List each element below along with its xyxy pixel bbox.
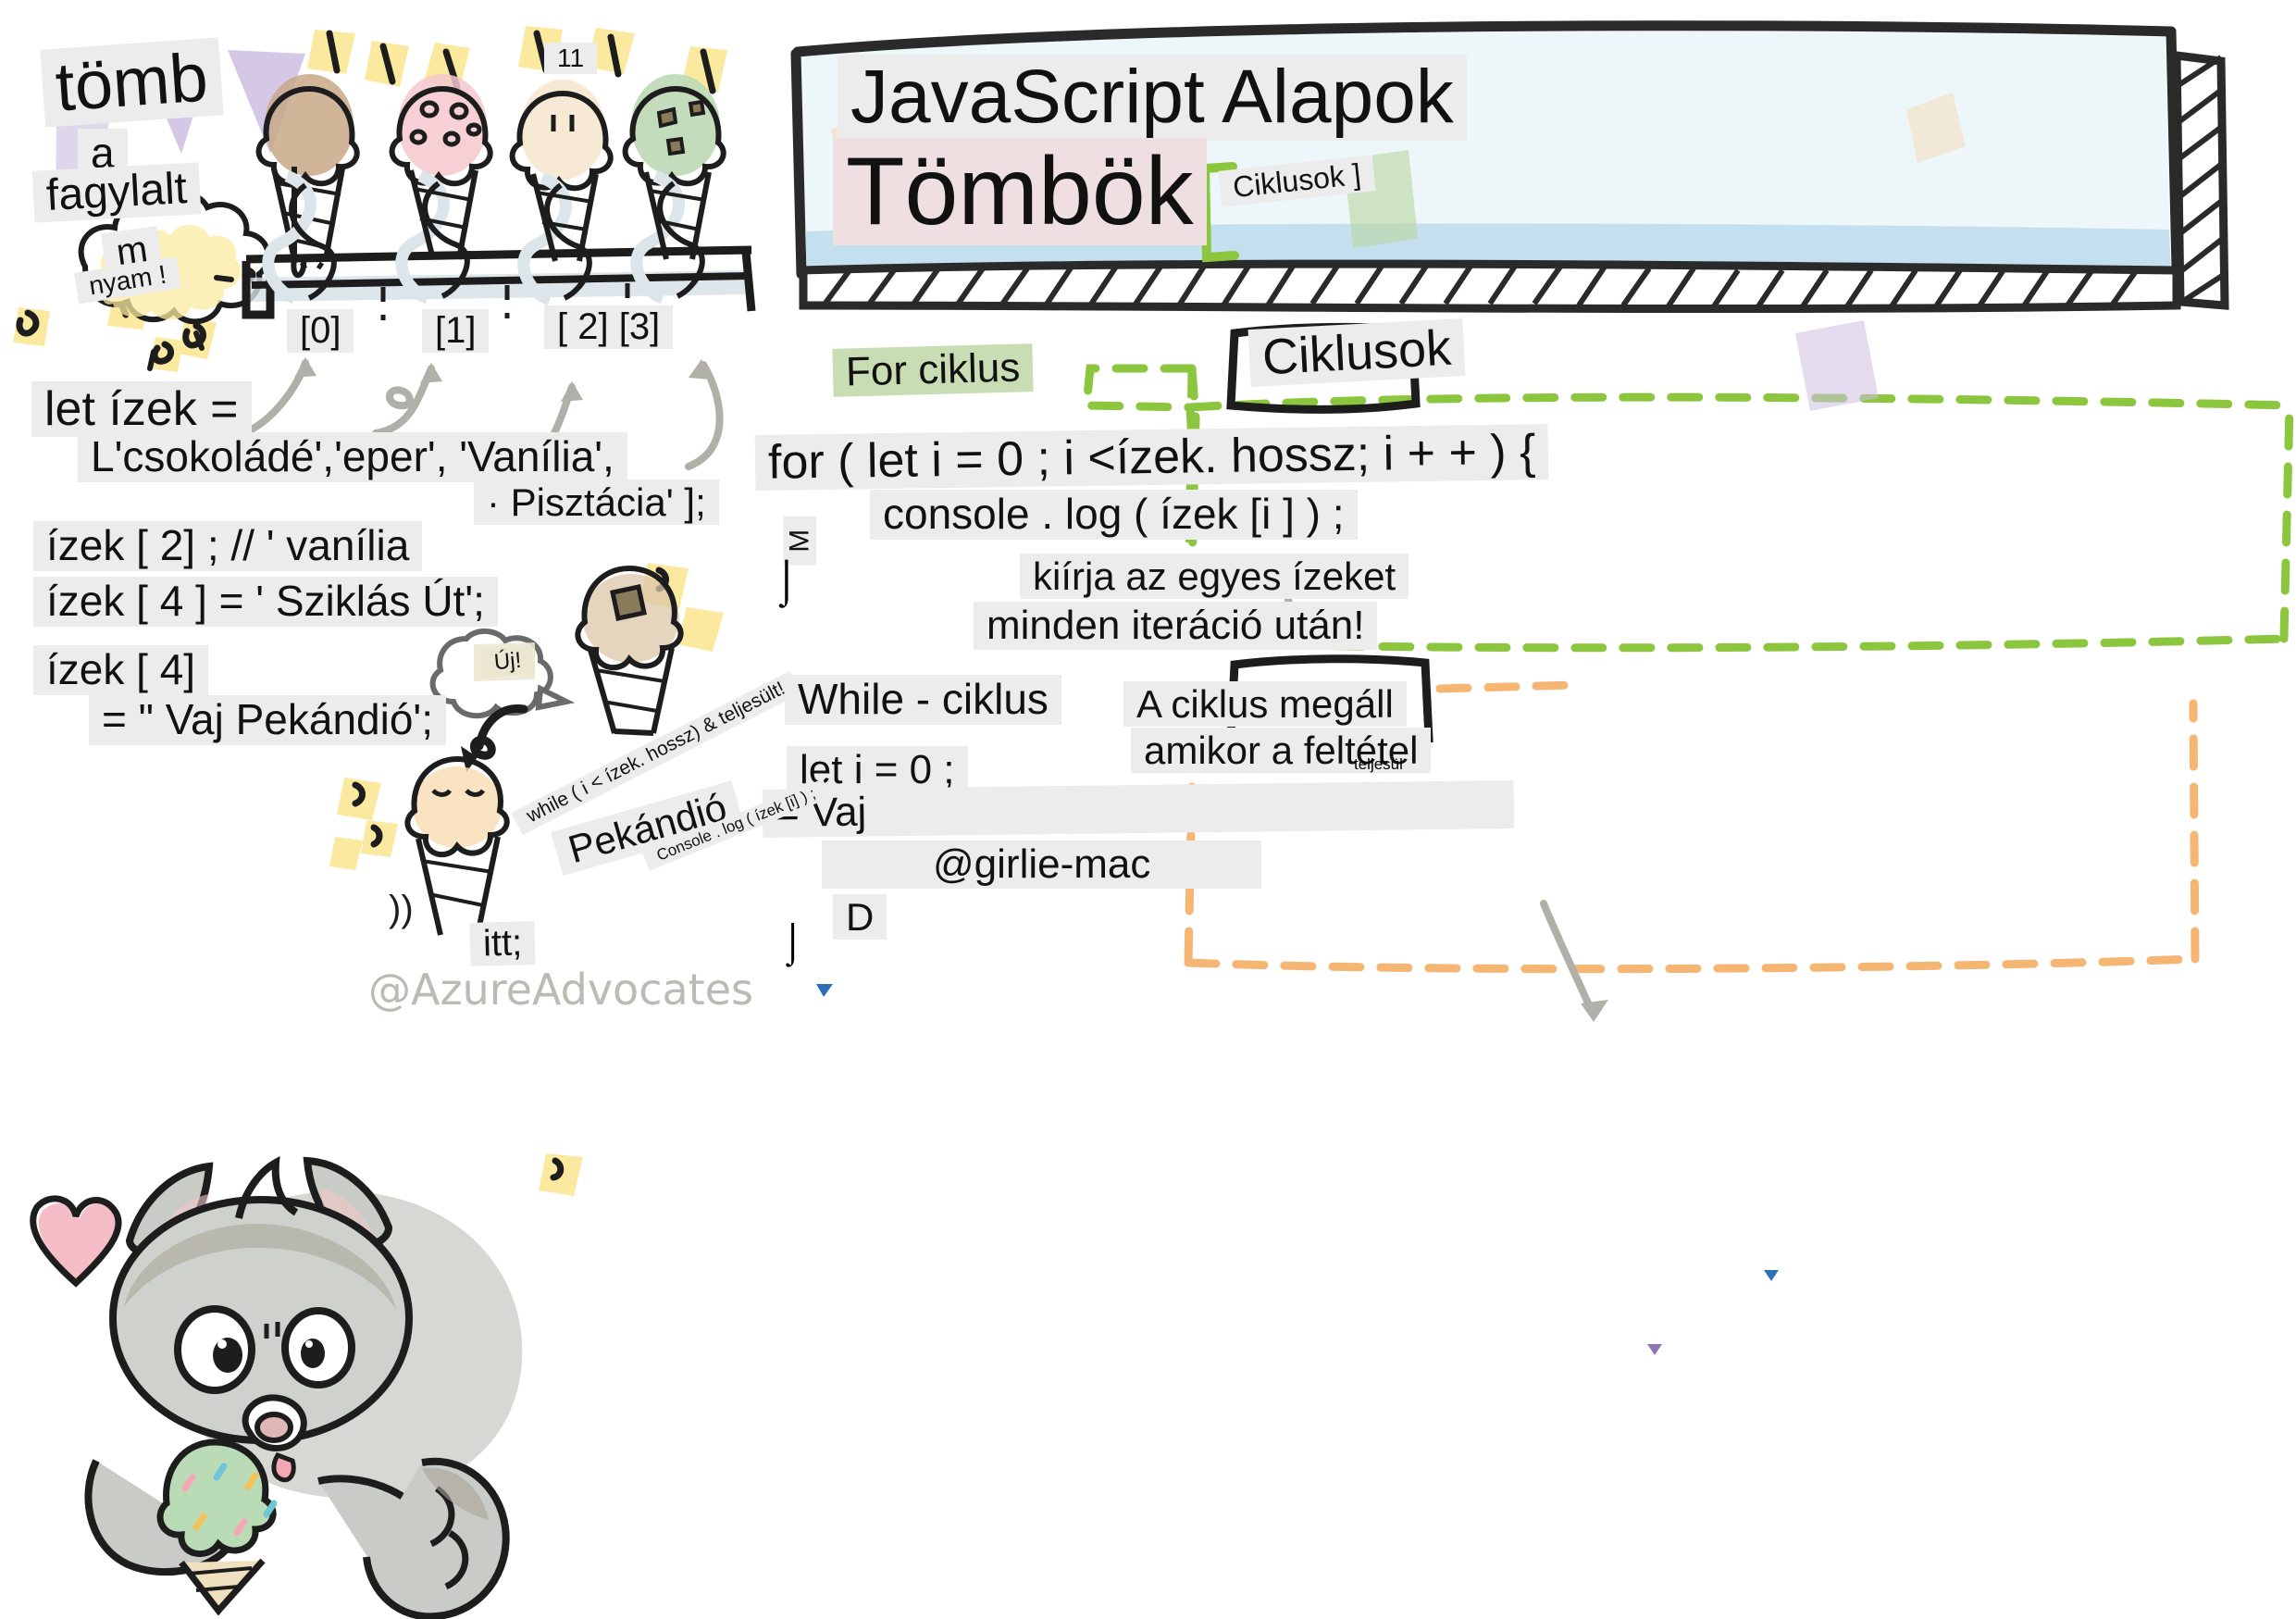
- code-line-array-1: L'csokoládé','eper', 'Vanília',: [78, 431, 627, 482]
- icecream-cone-2: [513, 80, 611, 300]
- sticker-eleven: 11: [544, 43, 597, 74]
- while-closing-brace: ⌡: [781, 920, 804, 965]
- icecream-cone-1: [392, 74, 490, 298]
- code-line-declaration: let ízek =: [31, 381, 252, 437]
- for-loop-header-code: for ( let i = 0 ; i <ízek. hossz; i + + …: [755, 424, 1549, 491]
- heading-tomb: tömb: [40, 36, 223, 127]
- black-arrow-head: [461, 746, 478, 772]
- while-note-arrowhead: [1581, 1000, 1608, 1022]
- while-vaj-line: = Vaj: [763, 780, 1515, 837]
- code-line-index-4: ízek [ 4]: [33, 644, 208, 695]
- ciklusok-wash: [1795, 320, 1879, 411]
- icecream-smiley-1: [577, 568, 680, 733]
- while-note-arrow: [1544, 903, 1590, 1007]
- black-curve-arrow: [474, 708, 524, 755]
- board-bracket-note: Ciklusok ]: [1218, 155, 1375, 206]
- icecream-shelf: [246, 250, 751, 315]
- icecream-smiley-2: [407, 759, 506, 935]
- for-loop-note-line-2: minden iteráció után!: [974, 602, 1377, 650]
- board-title: JavaScript Alapok: [838, 54, 1467, 141]
- code-line-array-2: · Pisztácia' ];: [474, 479, 719, 525]
- paren-marks: )): [389, 889, 414, 930]
- raccoon-illustration: [88, 1161, 522, 1616]
- arrow-loops: [390, 390, 410, 405]
- for-loop-closing-brace: ⌡: [774, 555, 800, 605]
- while-handle: @girlie-mac: [822, 841, 1261, 889]
- icecream-cone-3: [626, 74, 724, 298]
- array-index-23: [ 2] [3]: [544, 305, 673, 349]
- board-subtitle: Tömbök: [833, 137, 1207, 247]
- sticker-nyam: nyam !: [74, 256, 181, 304]
- small-marks: [592, 815, 1779, 1355]
- code-line-index-2: ízek [ 2] ; // ' vanília: [33, 520, 422, 571]
- for-loop-body-code: console . log ( ízek [i ] ) ;: [870, 489, 1358, 540]
- array-index-1: [1]: [422, 309, 489, 353]
- code-line-index-4-set: ízek [ 4 ] = ' Sziklás Út';: [33, 576, 498, 627]
- heart-decor: [33, 1199, 121, 1283]
- code-line-vaj-pekandio: = " Vaj Pekándió';: [89, 694, 446, 745]
- for-loop-label: For ciklus: [832, 343, 1034, 396]
- heading-fagylalt: fagylalt: [32, 162, 202, 222]
- for-loop-note-line-1: kiírja az egyes ízeket: [1020, 554, 1409, 599]
- array-index-0: [0]: [287, 309, 354, 353]
- while-note-line-1: A ciklus megáll: [1123, 681, 1407, 727]
- section-title-ciklusok: Ciklusok: [1248, 318, 1466, 387]
- while-d-char: D: [833, 894, 887, 940]
- arrow-heads: [294, 357, 711, 402]
- itt-label: itt;: [469, 921, 535, 966]
- while-loop-label: While - ciklus: [785, 674, 1061, 725]
- watermark: @AzureAdvocates: [368, 965, 753, 1015]
- icecream-cone-0: [259, 74, 357, 298]
- while-note-line-3: teljesül: [1354, 755, 1403, 774]
- speech-bubble-label: Új!: [480, 646, 536, 679]
